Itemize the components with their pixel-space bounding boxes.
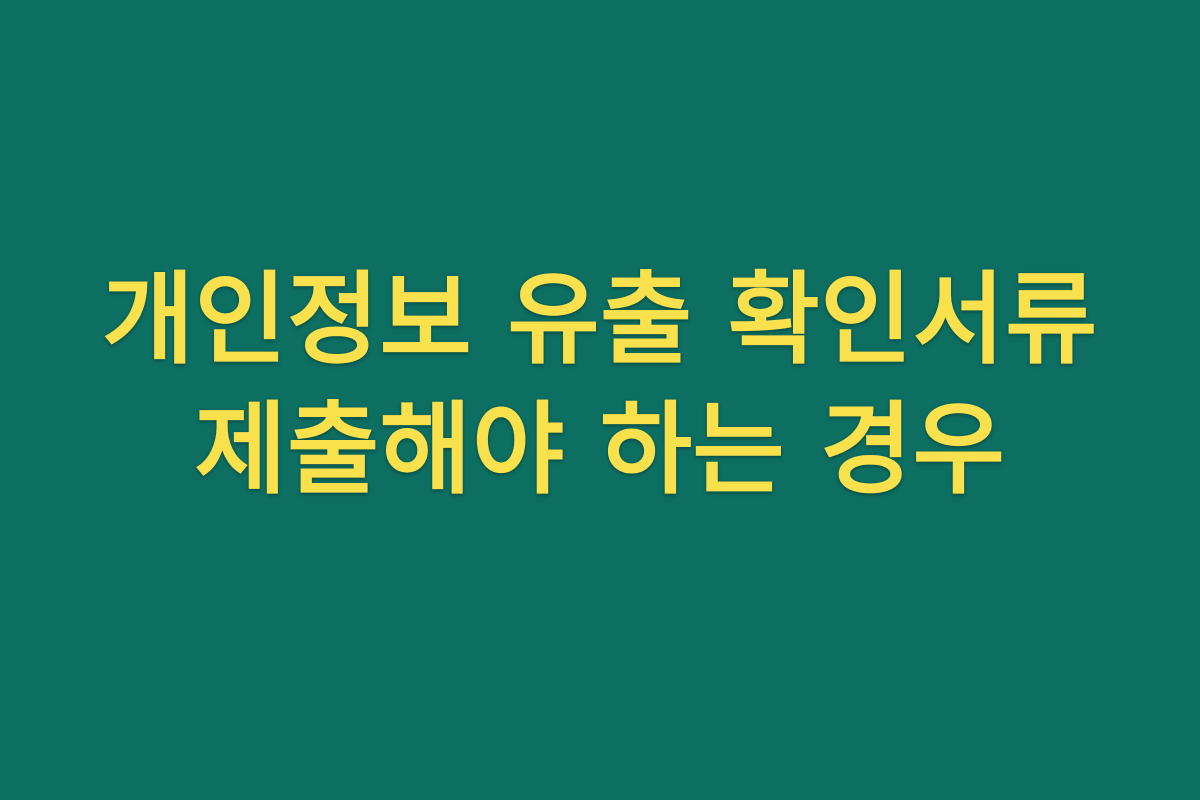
- headline-line-1: 개인정보 유출 확인서류: [40, 255, 1160, 385]
- text-banner: 개인정보 유출 확인서류 제출해야 하는 경우: [0, 0, 1200, 800]
- headline-block: 개인정보 유출 확인서류 제출해야 하는 경우: [0, 255, 1200, 515]
- headline-line-2: 제출해야 하는 경우: [40, 385, 1160, 515]
